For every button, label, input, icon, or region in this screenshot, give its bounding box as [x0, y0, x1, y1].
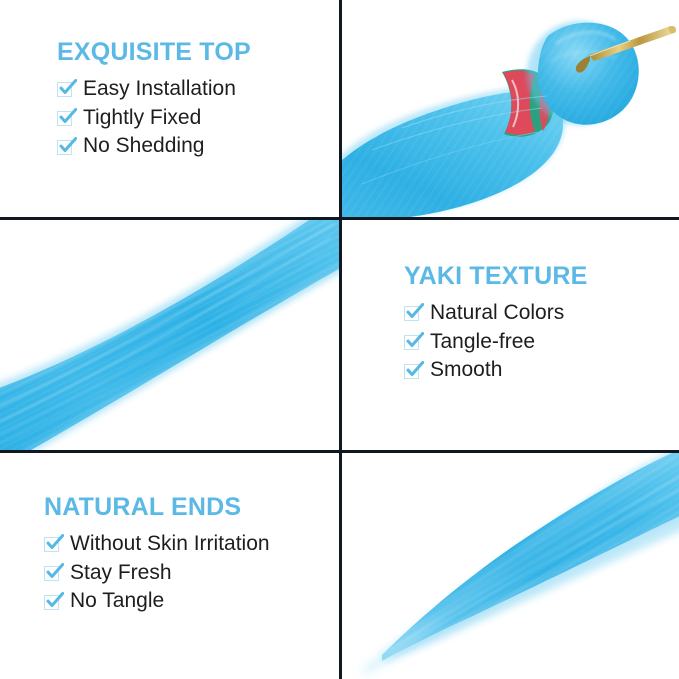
checkbox-checked-icon	[57, 81, 74, 98]
exquisite-top-textblock: EXQUISITE TOP Easy Installation	[57, 38, 251, 162]
checkbox-checked-icon	[404, 334, 421, 351]
feature-label: Easy Installation	[83, 76, 236, 102]
checkbox-checked-icon	[404, 363, 421, 380]
checkbox-checked-icon	[44, 594, 61, 611]
panel-yaki-texture: YAKI TEXTURE Natural Colors	[342, 220, 679, 450]
feature-label: Without Skin Irritation	[70, 531, 270, 557]
feature-item: Stay Fresh	[44, 560, 270, 586]
feature-list-natural-ends: Without Skin Irritation Stay Fresh	[44, 531, 270, 614]
feature-item: Without Skin Irritation	[44, 531, 270, 557]
divider-vertical-row1	[339, 0, 342, 220]
feature-label: Tangle-free	[430, 329, 535, 355]
panel-hair-ends-photo	[342, 453, 679, 679]
checkbox-checked-icon	[57, 139, 74, 156]
checkbox-checked-icon	[404, 305, 421, 322]
braid-bundle-illustration	[342, 0, 679, 217]
panel-title-natural-ends: NATURAL ENDS	[44, 493, 270, 522]
hair-ends-illustration	[342, 453, 679, 679]
panel-exquisite-top: EXQUISITE TOP Easy Installation	[0, 0, 339, 217]
feature-item: Tangle-free	[404, 329, 587, 355]
feature-list-yaki-texture: Natural Colors Tangle-free	[404, 300, 587, 383]
feature-label: Stay Fresh	[70, 560, 172, 586]
feature-label: No Shedding	[83, 133, 204, 159]
natural-ends-textblock: NATURAL ENDS Without Skin Irritation	[44, 493, 270, 617]
divider-vertical-row3	[339, 450, 342, 679]
feature-label: No Tangle	[70, 588, 164, 614]
feature-item: No Tangle	[44, 588, 270, 614]
panel-hair-body-photo	[0, 220, 339, 450]
feature-label: Smooth	[430, 357, 502, 383]
panel-natural-ends: NATURAL ENDS Without Skin Irritation	[0, 453, 339, 679]
feature-item: No Shedding	[57, 133, 251, 159]
feature-label: Tightly Fixed	[83, 105, 201, 131]
divider-vertical-row2	[339, 217, 342, 453]
feature-item: Smooth	[404, 357, 587, 383]
checkbox-checked-icon	[57, 110, 74, 127]
feature-item: Natural Colors	[404, 300, 587, 326]
feature-item: Tightly Fixed	[57, 105, 251, 131]
product-infographic: EXQUISITE TOP Easy Installation	[0, 0, 679, 679]
panel-title-yaki-texture: YAKI TEXTURE	[404, 262, 587, 291]
panel-braid-top-photo	[342, 0, 679, 217]
checkbox-checked-icon	[44, 536, 61, 553]
yaki-texture-textblock: YAKI TEXTURE Natural Colors	[404, 262, 587, 386]
checkbox-checked-icon	[44, 565, 61, 582]
hair-strands-illustration	[0, 220, 339, 450]
feature-list-exquisite-top: Easy Installation Tightly Fixed	[57, 76, 251, 159]
feature-label: Natural Colors	[430, 300, 564, 326]
feature-item: Easy Installation	[57, 76, 251, 102]
panel-title-exquisite-top: EXQUISITE TOP	[57, 38, 251, 67]
